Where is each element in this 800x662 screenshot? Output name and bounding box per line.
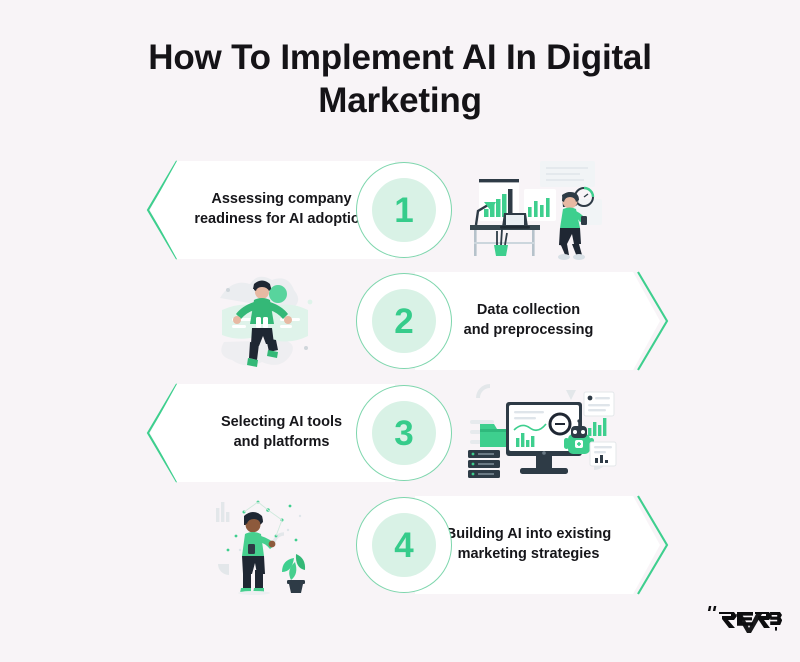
- step-badge-3[interactable]: 3: [356, 385, 452, 481]
- badge-inner-circle: 4: [372, 513, 436, 577]
- step-row-2: Data collection and preprocessing 2: [140, 266, 670, 376]
- step-row-1: Assessing company readiness for AI adopt…: [140, 155, 670, 265]
- badge-inner-circle: 1: [372, 178, 436, 242]
- infographic-page: How To Implement AI In Digital Marketing…: [0, 0, 800, 662]
- step-badge-4[interactable]: 4: [356, 497, 452, 593]
- reverb-logo: [706, 601, 782, 633]
- step-label-3: Selecting AI tools and platforms: [221, 413, 342, 452]
- step-number-3: 3: [394, 416, 413, 451]
- person-data-cloud-illustration: [210, 268, 325, 374]
- step-number-1: 1: [394, 193, 413, 228]
- reverb-logo-icon: [706, 601, 782, 633]
- step-badge-1[interactable]: 1: [356, 162, 452, 258]
- step-label-2: Data collection and preprocessing: [464, 301, 594, 340]
- step-row-3: Selecting AI tools and platforms 3: [140, 378, 670, 488]
- monitor-robot-server-illustration: [462, 380, 622, 484]
- step-number-2: 2: [394, 304, 413, 339]
- badge-inner-circle: 3: [372, 401, 436, 465]
- step-number-4: 4: [394, 528, 413, 563]
- badge-inner-circle: 2: [372, 289, 436, 353]
- step-badge-2[interactable]: 2: [356, 273, 452, 369]
- desk-laptop-analytics-illustration: [462, 157, 612, 263]
- step-row-4: Building AI into existing marketing stra…: [140, 490, 670, 600]
- step-label-1: Assessing company readiness for AI adopt…: [194, 190, 368, 229]
- step-label-4: Building AI into existing marketing stra…: [446, 525, 611, 564]
- page-title: How To Implement AI In Digital Marketing: [100, 36, 700, 123]
- person-tablet-network-illustration: [210, 492, 330, 596]
